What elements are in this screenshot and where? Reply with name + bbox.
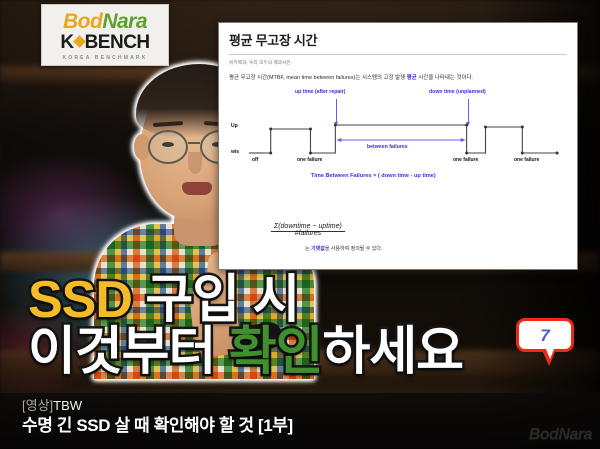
logo-brand-part2: Nara [102, 10, 147, 33]
slide-source-note: 위키백과, 우리 모두의 백과사전. [229, 60, 567, 66]
bodnara-watermark: BodNara [529, 426, 592, 444]
video-thumbnail: 평균 무고장 시간 위키백과, 우리 모두의 백과사전. 평균 무고장 시간(M… [0, 0, 600, 449]
caption-bar: [영상]TBW 수명 긴 SSD 살 때 확인해야 할 것 [1부] [0, 393, 600, 449]
square-wave-plot [219, 87, 577, 183]
bubble-body: 7 [516, 318, 574, 352]
caption-kicker: [영상]TBW [22, 399, 586, 413]
caption-kicker-source: TBW [53, 398, 82, 413]
headline-overlay: SSD 구입 시 이것부터 확인하세요 [28, 276, 588, 378]
diagram-axis-down: wis [231, 149, 239, 155]
formula-note-after: 을 사용하여 정의될 수 있다. [325, 246, 383, 252]
nose [188, 152, 202, 174]
lead-text-highlight: 평균 [407, 75, 417, 81]
headline-line-2: 이것부터 확인하세요 [28, 328, 588, 378]
headline-line2-b: 하세요 [323, 323, 464, 381]
slide-lead-paragraph: 평균 무고장 시간(MTBF, mean time between failur… [229, 73, 567, 81]
glasses-bridge [188, 142, 200, 144]
logo-diamond-icon [73, 35, 86, 48]
logo-bench-word: BENCH [85, 32, 150, 53]
headline-line-1: SSD 구입 시 [28, 276, 588, 326]
diagram-failure-label: one failure [297, 157, 322, 163]
formula-denominator: #failures [295, 229, 321, 237]
caption-kicker-tag: [영상] [22, 398, 53, 413]
logo-brand: BodNara [63, 11, 147, 32]
formula-note-highlight: 기댓값 [311, 246, 325, 252]
diagram-label-between: between failures [367, 144, 408, 150]
glasses-lens-left [148, 130, 188, 164]
logo-bench-k: K [60, 32, 73, 53]
formula-fraction: Σ(downtime − uptime) #failures [271, 223, 345, 237]
count-speech-bubble: 7 [516, 318, 574, 352]
mtbf-formula: Σ(downtime − uptime) #failures [271, 223, 345, 237]
diagram-failure-label: one failure [453, 157, 478, 163]
headline-line1-rest: 구입 시 [145, 271, 299, 329]
channel-logo: BodNara KBENCH KOREA BENCHMARK [41, 4, 169, 66]
presentation-slide: 평균 무고장 시간 위키백과, 우리 모두의 백과사전. 평균 무고장 시간(M… [218, 22, 578, 270]
mtbf-diagram: up time (after repair) down time (unplan… [219, 87, 577, 183]
diagram-equation: Time Between Failures = ( down time - up… [311, 173, 436, 179]
bubble-number: 7 [540, 327, 549, 344]
slide-title: 평균 무고장 시간 [229, 30, 567, 49]
headline-line2-green: 확인 [229, 323, 323, 381]
slide-title-rule [229, 54, 567, 55]
logo-brand-part1: Bod [63, 10, 102, 33]
bubble-tail-inner [546, 349, 554, 359]
formula-note: 는 기댓값을 사용하여 정의될 수 있다. [305, 245, 382, 252]
mouth [182, 182, 212, 195]
diagram-axis-up: Up [231, 123, 238, 129]
caption-title: 수명 긴 SSD 살 때 확인해야 할 것 [1부] [22, 416, 586, 436]
logo-tagline: KOREA BENCHMARK [62, 55, 147, 61]
diagram-label-off: off [252, 157, 258, 163]
lead-text-after: 시간을 나타내는 것이다. [417, 75, 473, 81]
logo-bench: KBENCH [60, 33, 149, 53]
lead-text-before: 평균 무고장 시간(MTBF, mean time between failur… [229, 75, 407, 81]
diagram-failure-label: one failure [514, 157, 539, 163]
headline-ssd: SSD [28, 271, 132, 329]
headline-line2-a: 이것부터 [28, 323, 229, 381]
slide-header: 평균 무고장 시간 위키백과, 우리 모두의 백과사전. [219, 23, 577, 66]
